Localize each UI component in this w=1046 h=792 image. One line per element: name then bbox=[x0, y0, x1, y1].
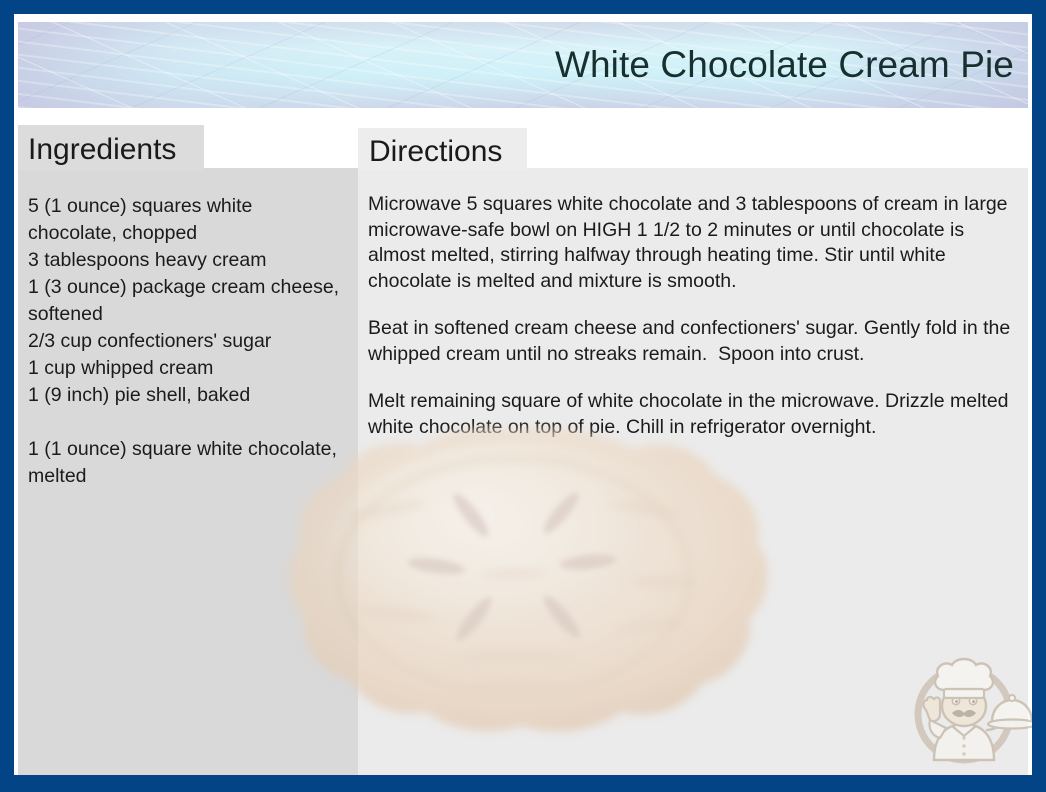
ingredient-item: 2/3 cup confectioners' sugar bbox=[28, 328, 346, 355]
ingredients-spacer bbox=[28, 409, 346, 436]
ingredient-item: 1 (9 inch) pie shell, baked bbox=[28, 382, 346, 409]
ingredient-item: 5 (1 ounce) squares white chocolate, cho… bbox=[28, 193, 346, 247]
ingredient-item: 3 tablespoons heavy cream bbox=[28, 247, 346, 274]
direction-step: Microwave 5 squares white chocolate and … bbox=[368, 192, 1016, 294]
direction-step: Beat in softened cream cheese and confec… bbox=[368, 316, 1016, 367]
directions-heading: Directions bbox=[369, 135, 502, 169]
ingredient-item: 1 cup whipped cream bbox=[28, 355, 346, 382]
title-banner: White Chocolate Cream Pie bbox=[18, 22, 1028, 108]
recipe-card-body: White Chocolate Cream Pie Ingredients 5 … bbox=[14, 14, 1032, 775]
ingredient-item: 1 (3 ounce) package cream cheese, soften… bbox=[28, 274, 346, 328]
recipe-card-frame: White Chocolate Cream Pie Ingredients 5 … bbox=[0, 0, 1046, 792]
ingredient-item: 1 (1 ounce) square white chocolate, melt… bbox=[28, 436, 346, 490]
ingredients-list: 5 (1 ounce) squares white chocolate, cho… bbox=[28, 193, 346, 490]
directions-steps: Microwave 5 squares white chocolate and … bbox=[368, 192, 1016, 440]
direction-step: Melt remaining square of white chocolate… bbox=[368, 389, 1016, 440]
ingredients-heading: Ingredients bbox=[28, 133, 176, 167]
page-title: White Chocolate Cream Pie bbox=[555, 44, 1014, 86]
